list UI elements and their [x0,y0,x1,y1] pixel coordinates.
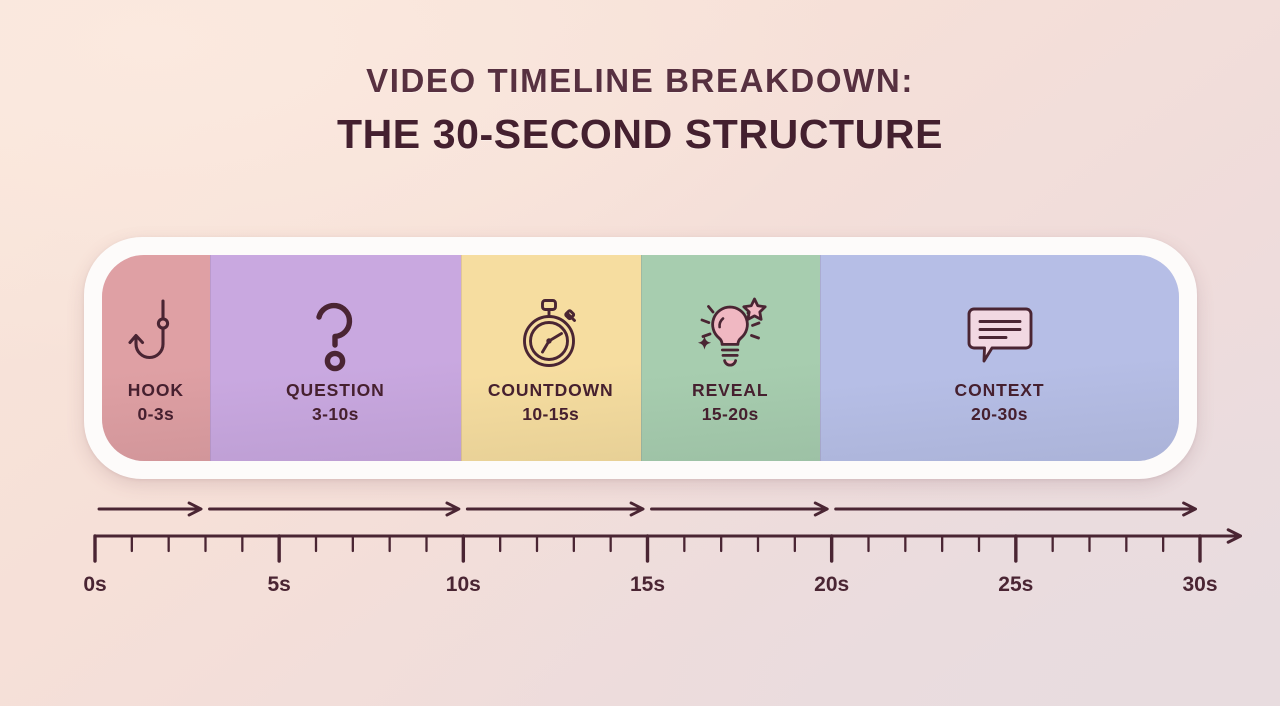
stopwatch-icon [516,295,586,373]
question-mark-icon [306,295,364,373]
title-block: VIDEO TIMELINE BREAKDOWN: THE 30-SECOND … [0,62,1280,159]
infographic-page: VIDEO TIMELINE BREAKDOWN: THE 30-SECOND … [0,0,1280,706]
axis-tick-label: 15s [630,573,665,596]
segment-time-range: 0-3s [138,403,175,427]
segment-time-range: 10-15s [522,403,579,427]
timeline-segment-countdown[interactable]: COUNTDOWN10-15s [461,255,641,461]
timeline-segment-hook[interactable]: HOOK0-3s [102,255,210,461]
title-line-2: THE 30-SECOND STRUCTURE [0,110,1280,159]
timeline-bar: HOOK0-3s QUESTION3-10s COUNTDOWN10-15s [102,255,1179,461]
timeline-segment-context[interactable]: CONTEXT20-30s [820,255,1179,461]
segment-label: COUNTDOWN [488,379,614,403]
segment-label: QUESTION [286,379,385,403]
axis-tick-label: 5s [267,573,290,596]
time-axis-svg: 0s5s10s15s20s25s30s [0,489,1280,609]
timeline-segment-reveal[interactable]: REVEAL15-20s [641,255,821,461]
fish-hook-icon [126,295,186,373]
segment-label: CONTEXT [955,379,1045,403]
axis-tick-label: 0s [83,573,106,596]
axis-tick-label: 30s [1182,573,1217,596]
axis-tick-label: 25s [998,573,1033,596]
time-axis: 0s5s10s15s20s25s30s [0,489,1280,609]
segment-time-range: 3-10s [312,403,359,427]
segment-label: REVEAL [692,379,768,403]
segment-time-range: 15-20s [702,403,759,427]
title-line-1: VIDEO TIMELINE BREAKDOWN: [0,62,1280,101]
segment-label: HOOK [128,379,184,403]
timeline-segment-question[interactable]: QUESTION3-10s [210,255,461,461]
axis-tick-label: 10s [446,573,481,596]
segment-time-range: 20-30s [971,403,1028,427]
axis-tick-label: 20s [814,573,849,596]
speech-bubble-icon [964,295,1036,373]
tick-label-group: 0s5s10s15s20s25s30s [83,573,1217,596]
timeline-bar-frame: HOOK0-3s QUESTION3-10s COUNTDOWN10-15s [84,237,1197,479]
lightbulb-icon [692,295,768,373]
tick-group [95,536,1240,561]
